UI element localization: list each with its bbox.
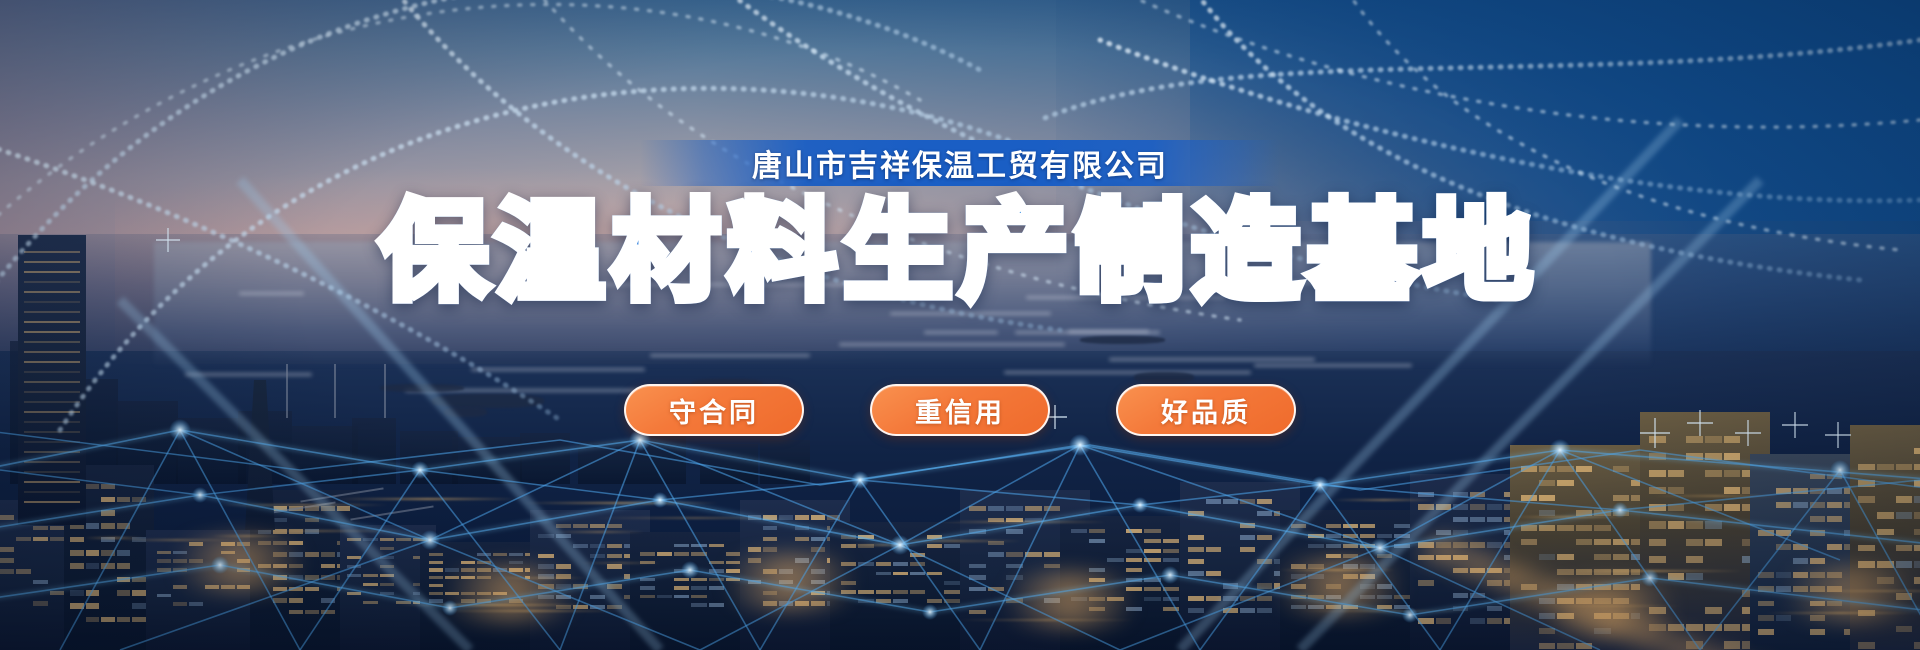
- badge-label: 守合同: [669, 391, 759, 430]
- badge-zhong-xin-yong[interactable]: 重信用: [870, 384, 1050, 436]
- badge-list: 守合同 重信用 好品质: [0, 384, 1920, 436]
- badge-hao-pin-zhi[interactable]: 好品质: [1116, 384, 1296, 436]
- company-name-bar: 唐山市吉祥保温工贸有限公司: [640, 140, 1280, 186]
- badge-label: 好品质: [1161, 391, 1251, 430]
- badge-shou-he-tong[interactable]: 守合同: [624, 384, 804, 436]
- banner-content: 唐山市吉祥保温工贸有限公司 保温材料生产制造基地 保温材料生产制造基地 守合同 …: [0, 0, 1920, 650]
- badge-label: 重信用: [915, 391, 1005, 430]
- hero-banner: 唐山市吉祥保温工贸有限公司 保温材料生产制造基地 保温材料生产制造基地 守合同 …: [0, 0, 1920, 650]
- company-name: 唐山市吉祥保温工贸有限公司: [752, 141, 1168, 185]
- headline-wrapper: 保温材料生产制造基地 保温材料生产制造基地: [0, 198, 1920, 306]
- headline-text: 保温材料生产制造基地: [380, 198, 1540, 306]
